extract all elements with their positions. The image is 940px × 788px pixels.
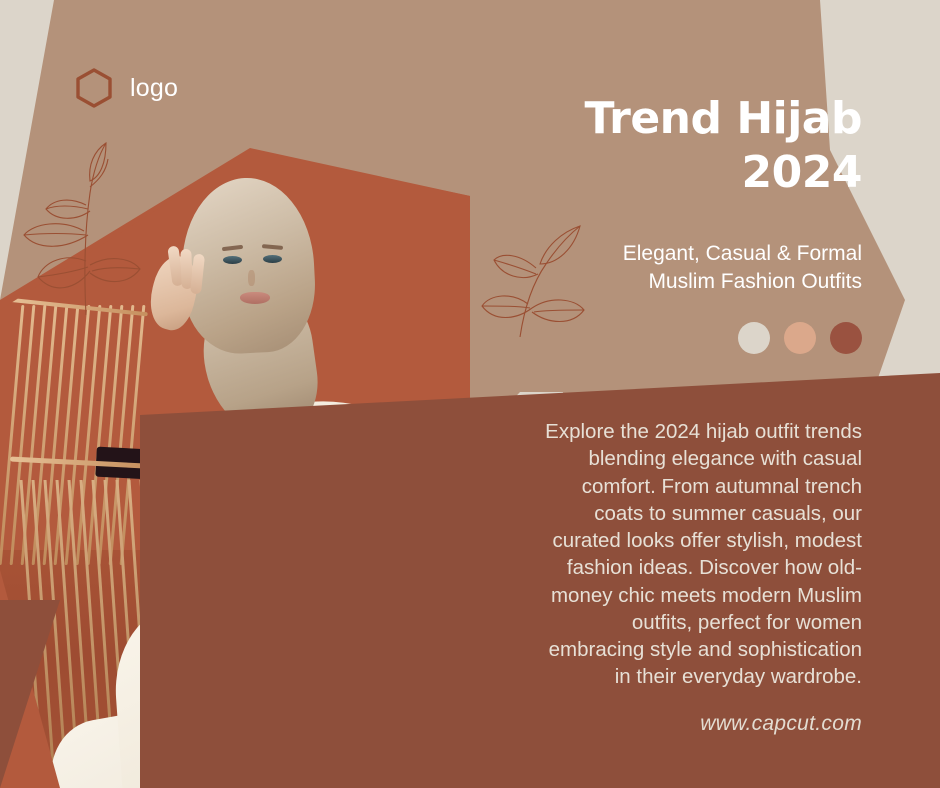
color-swatch-group	[738, 322, 862, 354]
brand-logo-text: logo	[130, 74, 178, 103]
hexagon-icon	[72, 66, 116, 110]
swatch-peach[interactable]	[784, 322, 816, 354]
page-subtitle: Elegant, Casual & Formal Muslim Fashion …	[482, 240, 862, 296]
swatch-rust[interactable]	[830, 322, 862, 354]
page-subtitle-line1: Elegant, Casual & Formal	[623, 242, 862, 265]
brand-logo[interactable]: logo	[72, 66, 178, 110]
description-text: Explore the 2024 hijab outfit trends ble…	[532, 418, 862, 691]
model-lips	[240, 292, 270, 304]
model-nose	[248, 270, 255, 286]
website-url[interactable]: www.capcut.com	[700, 712, 862, 736]
leaf-branch-icon	[14, 135, 149, 315]
swatch-cream[interactable]	[738, 322, 770, 354]
page-subtitle-line2: Muslim Fashion Outfits	[648, 270, 862, 293]
page-title: Trend Hijab 2024	[442, 92, 862, 199]
poster-canvas: logo Trend Hijab 2024 Elegant, Casual & …	[0, 0, 940, 788]
page-title-line1: Trend Hijab	[442, 92, 862, 146]
model-eye-right	[263, 255, 282, 263]
model-eye-left	[223, 256, 242, 264]
page-title-line2: 2024	[442, 146, 862, 200]
